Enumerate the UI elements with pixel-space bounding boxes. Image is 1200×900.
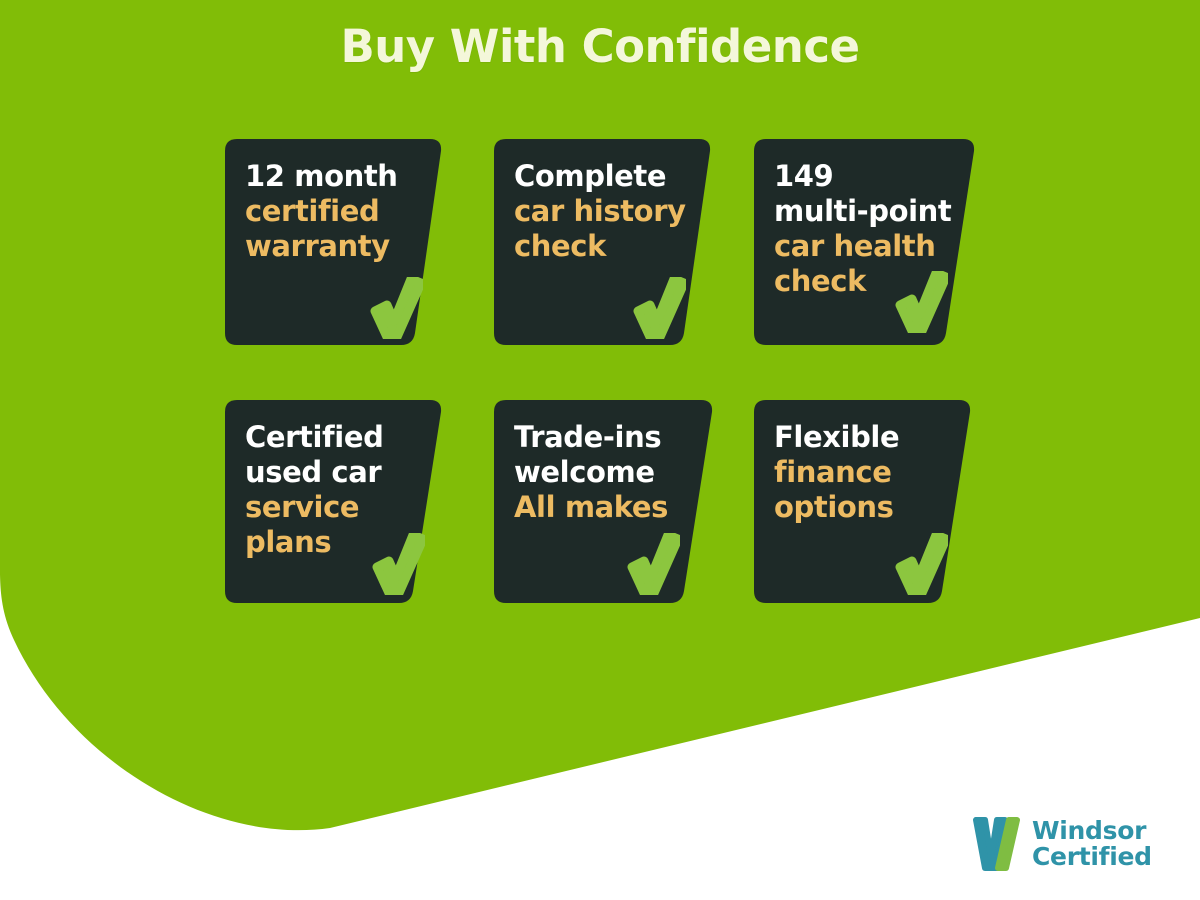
card-line-amber: car history bbox=[514, 194, 698, 229]
feature-card-trade-ins[interactable]: Trade-ins welcome All makes bbox=[494, 400, 716, 603]
logo-wordmark: Windsor Certified bbox=[1032, 818, 1152, 870]
feature-card-car-health-check[interactable]: 149 multi-point car health check bbox=[754, 139, 976, 345]
card-text: Trade-ins welcome All makes bbox=[494, 400, 716, 525]
card-line-amber: warranty bbox=[245, 229, 429, 264]
card-line-amber: service bbox=[245, 490, 429, 525]
card-text: 12 month certified warranty bbox=[225, 139, 447, 264]
feature-card-car-history-check[interactable]: Complete car history check bbox=[494, 139, 716, 345]
card-line-white: welcome bbox=[514, 455, 698, 490]
card-line-white: Certified bbox=[245, 420, 429, 455]
feature-card-service-plans[interactable]: Certified used car service plans bbox=[225, 400, 447, 603]
card-line-amber: All makes bbox=[514, 490, 698, 525]
card-text: Complete car history check bbox=[494, 139, 716, 264]
card-line-amber: check bbox=[514, 229, 698, 264]
card-line-amber: certified bbox=[245, 194, 429, 229]
logo-line-1: Windsor bbox=[1032, 818, 1152, 844]
card-line-white: 149 bbox=[774, 159, 958, 194]
card-line-white: Flexible bbox=[774, 420, 958, 455]
feature-card-certified-warranty[interactable]: 12 month certified warranty bbox=[225, 139, 447, 345]
poster-canvas: Buy With Confidence 12 month certified w… bbox=[0, 0, 1200, 900]
card-text: Certified used car service plans bbox=[225, 400, 447, 560]
card-line-white: used car bbox=[245, 455, 429, 490]
logo-line-2: Certified bbox=[1032, 844, 1152, 870]
page-title: Buy With Confidence bbox=[0, 22, 1200, 72]
card-text: 149 multi-point car health check bbox=[754, 139, 976, 299]
windsor-w-logo-icon bbox=[972, 816, 1024, 872]
card-line-amber: finance bbox=[774, 455, 958, 490]
card-line-amber: check bbox=[774, 264, 958, 299]
card-line-amber: car health bbox=[774, 229, 958, 264]
card-line-white: Trade-ins bbox=[514, 420, 698, 455]
card-text: Flexible finance options bbox=[754, 400, 976, 525]
card-line-white: Complete bbox=[514, 159, 698, 194]
features-grid: 12 month certified warranty Complete car… bbox=[225, 139, 985, 609]
card-line-amber: options bbox=[774, 490, 958, 525]
card-line-amber: plans bbox=[245, 525, 429, 560]
card-line-white: multi-point bbox=[774, 194, 958, 229]
card-line-white: 12 month bbox=[245, 159, 429, 194]
windsor-certified-logo[interactable]: Windsor Certified bbox=[972, 813, 1152, 875]
feature-card-finance-options[interactable]: Flexible finance options bbox=[754, 400, 976, 603]
